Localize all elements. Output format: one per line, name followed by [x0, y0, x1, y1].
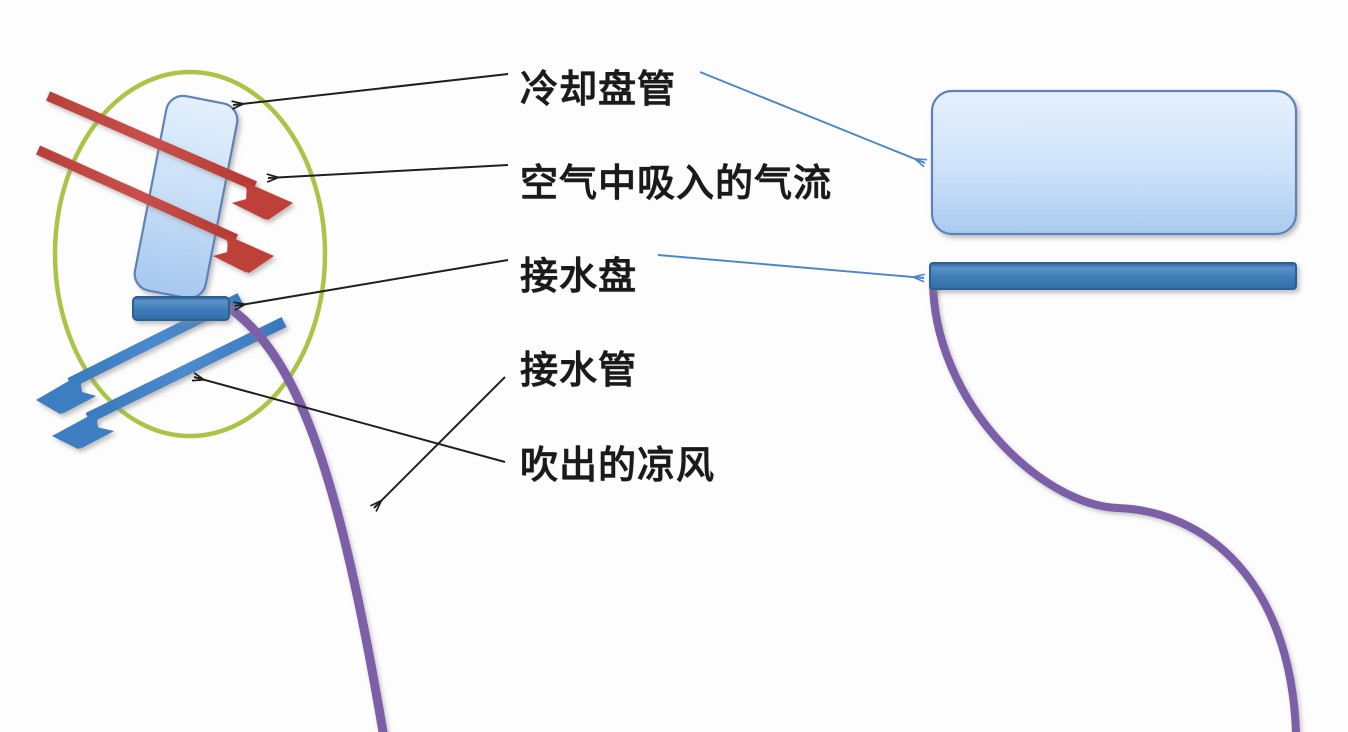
label-intake-air: 空气中吸入的气流 — [520, 152, 832, 207]
label-drain-pan: 接水盘 — [520, 245, 637, 300]
label-cooling-coil: 冷却盘管 — [520, 58, 676, 113]
leader-intake-air — [268, 165, 508, 178]
drain-pan-left — [133, 297, 229, 320]
connector-drain-pan-to-bar — [658, 255, 924, 278]
diagram-canvas: 冷却盘管 空气中吸入的气流 接水盘 接水管 吹出的凉风 — [0, 0, 1348, 732]
drain-tube-right — [933, 280, 1296, 732]
cool-air-arrow-2 — [52, 322, 284, 449]
drain-tube-left — [231, 309, 383, 732]
leader-cool-air — [194, 377, 505, 462]
label-drain-pipe: 接水管 — [520, 339, 637, 394]
cooling-coil-right — [932, 91, 1296, 234]
connector-cooling-coil-to-box — [700, 72, 925, 163]
leader-drain-pan — [235, 260, 508, 306]
drain-pan-right — [930, 263, 1296, 289]
leader-drain-pipe — [374, 377, 505, 508]
label-cool-air-out: 吹出的凉风 — [520, 434, 715, 489]
leader-cooling-coil — [233, 74, 508, 105]
